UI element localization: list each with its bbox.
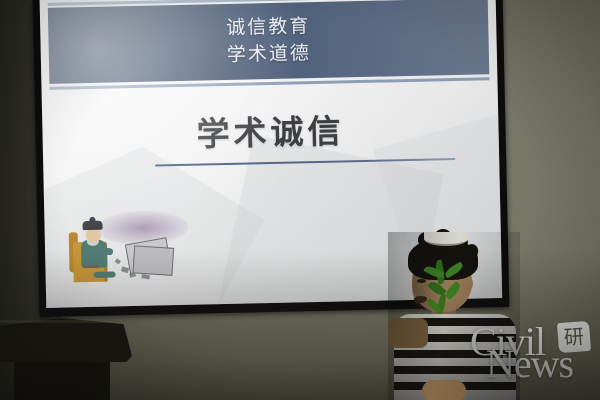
leaf-shape <box>443 262 464 279</box>
floor-shadow <box>0 250 600 400</box>
leaf-shape <box>443 281 462 300</box>
slide-header-line-2: 学术道德 <box>227 41 312 68</box>
shirt-palm-leaf-graphic <box>422 258 468 316</box>
slide-header-line-1: 诚信教育 <box>226 14 311 41</box>
cartoon-hat-knob <box>89 217 95 223</box>
shirt-collar <box>424 232 468 246</box>
slide-title: 学术诚信 <box>42 101 499 159</box>
slide-header-band: 诚信教育 学术道德 <box>48 0 490 84</box>
photo-scene: 诚信教育 学术道德 学术诚信 学术诚信 <box>0 0 600 400</box>
presenter-hands <box>422 380 466 400</box>
presenter-arm <box>388 318 428 348</box>
